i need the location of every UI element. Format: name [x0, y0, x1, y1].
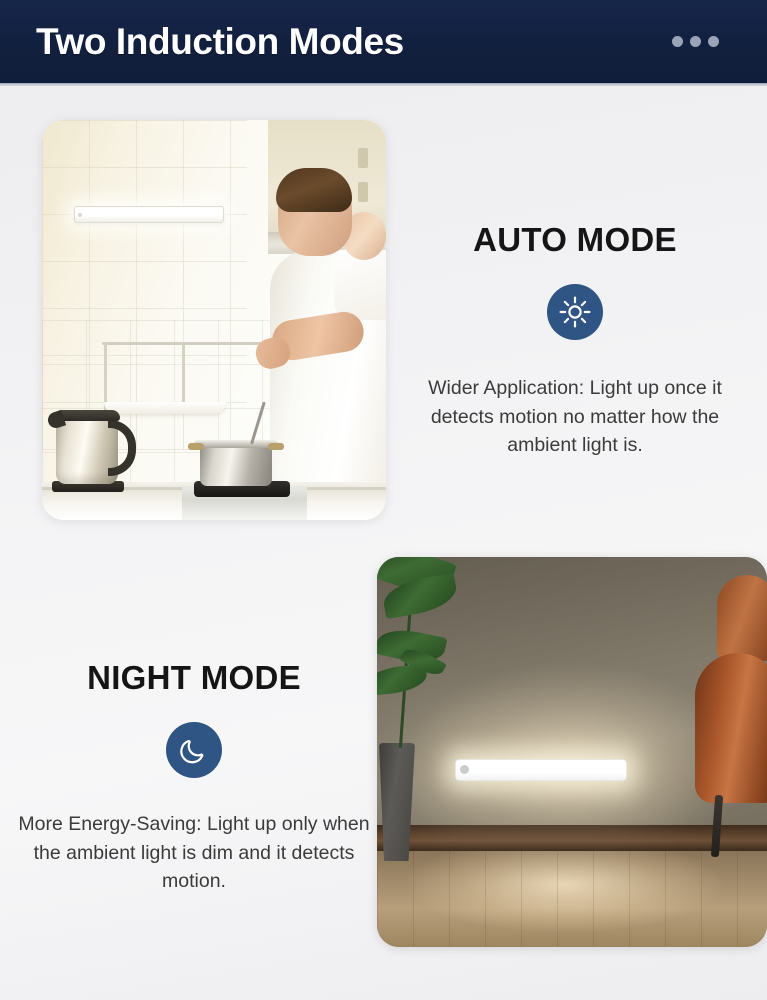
night-mode-block: NIGHT MODE More Energy-Saving: Light up … — [14, 660, 374, 895]
night-mode-title: NIGHT MODE — [14, 660, 374, 696]
armchair — [695, 653, 767, 803]
menu-dot — [690, 36, 701, 47]
pot-handle — [188, 443, 204, 450]
more-horizontal-icon[interactable] — [672, 36, 719, 47]
header-divider — [0, 83, 767, 86]
night-room-scene — [377, 557, 767, 947]
led-bar-light — [455, 759, 627, 781]
cabinet-hinge — [358, 148, 368, 168]
cabinet-hinge — [358, 182, 368, 202]
moon-icon — [166, 722, 222, 778]
wall-shelf — [104, 402, 226, 414]
led-bar-light — [74, 206, 224, 223]
night-mode-description: More Energy-Saving: Light up only when t… — [14, 810, 374, 895]
auto-mode-photo — [42, 120, 386, 520]
product-feature-page: Two Induction Modes — [0, 0, 767, 1000]
armchair-top — [717, 575, 767, 661]
night-mode-photo — [377, 557, 767, 947]
wood-floor-planks — [377, 851, 767, 947]
auto-mode-description: Wider Application: Light up once it dete… — [395, 374, 755, 459]
sun-icon — [547, 284, 603, 340]
auto-mode-title: AUTO MODE — [395, 222, 755, 258]
room-baseboard — [377, 825, 767, 851]
cooking-pot — [200, 444, 272, 486]
header-bar: Two Induction Modes — [0, 0, 767, 83]
motion-sensor-icon — [460, 765, 469, 774]
man-hair — [276, 168, 352, 212]
auto-mode-block: AUTO MODE Wider Application: Light up on… — [395, 222, 755, 459]
pot-handle — [268, 443, 284, 450]
pot-rim — [194, 440, 278, 448]
kitchen-scene — [42, 120, 386, 520]
page-title: Two Induction Modes — [36, 23, 404, 60]
menu-dot — [672, 36, 683, 47]
menu-dot — [708, 36, 719, 47]
